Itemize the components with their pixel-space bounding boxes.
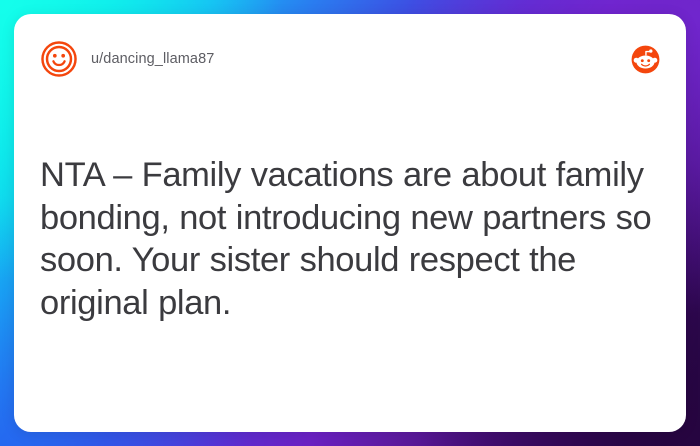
comment-card: u/dancing_llama87 NTA – Family vaca bbox=[14, 14, 686, 432]
reddit-snoo-icon[interactable] bbox=[631, 45, 660, 74]
card-header: u/dancing_llama87 bbox=[14, 14, 686, 104]
username-label: u/dancing_llama87 bbox=[91, 51, 214, 67]
comment-body: NTA – Family vacations are about family … bbox=[40, 154, 664, 324]
author-group[interactable]: u/dancing_llama87 bbox=[40, 40, 214, 78]
smiley-face-circle-icon bbox=[40, 40, 78, 78]
gradient-backdrop: u/dancing_llama87 NTA – Family vaca bbox=[0, 0, 700, 446]
